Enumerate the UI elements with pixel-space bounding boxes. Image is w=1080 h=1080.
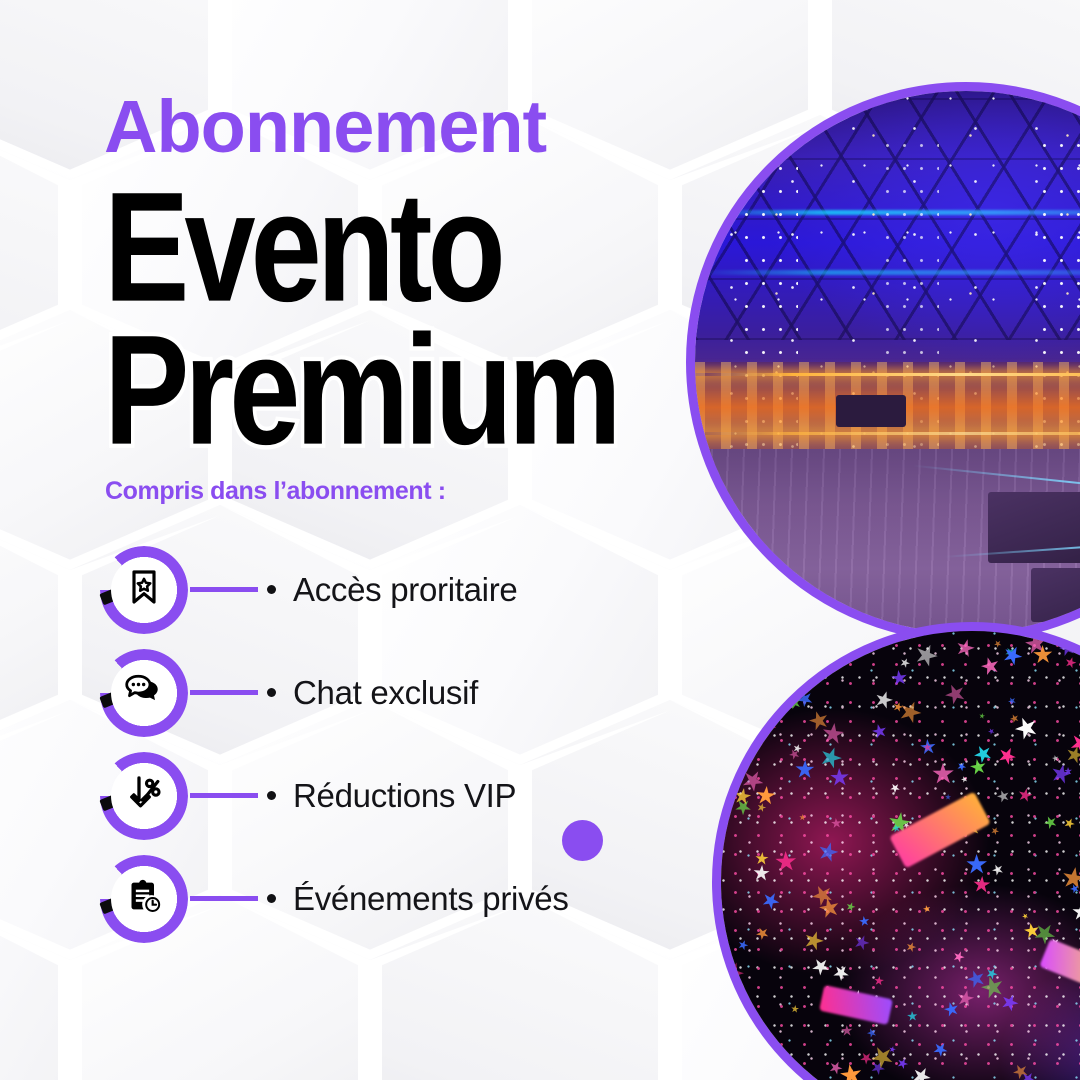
page-title: Evento Premium: [104, 175, 617, 461]
connector-line: [190, 793, 258, 798]
icon-ring: [100, 649, 188, 737]
feature-label: Événements privés: [293, 880, 569, 918]
feature-label: Chat exclusif: [293, 674, 478, 712]
icon-ring: [100, 752, 188, 840]
kicker-text: Abonnement: [104, 84, 546, 169]
clipboard-clock-icon: [124, 876, 164, 921]
connector-line: [190, 896, 258, 901]
night-venue-photo: [686, 82, 1080, 642]
percent-arrow-down-icon: [124, 773, 164, 818]
confetti-photo: [712, 622, 1080, 1080]
bullet-dot: [267, 585, 276, 594]
connector-line: [190, 690, 258, 695]
feature-item-reductions-vip[interactable]: Réductions VIP: [100, 744, 569, 847]
icon-ring: [100, 855, 188, 943]
feature-item-acces-proritaire[interactable]: Accès proritaire: [100, 538, 569, 641]
speech-bubbles-icon: [123, 669, 165, 716]
section-label: Compris dans l’abonnement :: [105, 477, 446, 506]
premium-subscription-poster: Abonnement Evento Premium Compris dans l…: [0, 0, 1080, 1080]
feature-label: Réductions VIP: [293, 777, 516, 815]
bullet-dot: [267, 894, 276, 903]
icon-ring: [100, 546, 188, 634]
title-line-evento: Evento: [104, 175, 617, 320]
feature-item-chat-exclusif[interactable]: Chat exclusif: [100, 641, 569, 744]
feature-item-evenements-prives[interactable]: Événements privés: [100, 847, 569, 950]
feature-label: Accès proritaire: [293, 571, 517, 609]
bookmark-star-icon: [124, 567, 164, 612]
connector-line: [190, 587, 258, 592]
feature-list: Accès proritaire: [100, 538, 569, 950]
bullet-dot: [267, 791, 276, 800]
bullet-dot: [267, 688, 276, 697]
title-line-premium: Premium: [104, 318, 617, 463]
